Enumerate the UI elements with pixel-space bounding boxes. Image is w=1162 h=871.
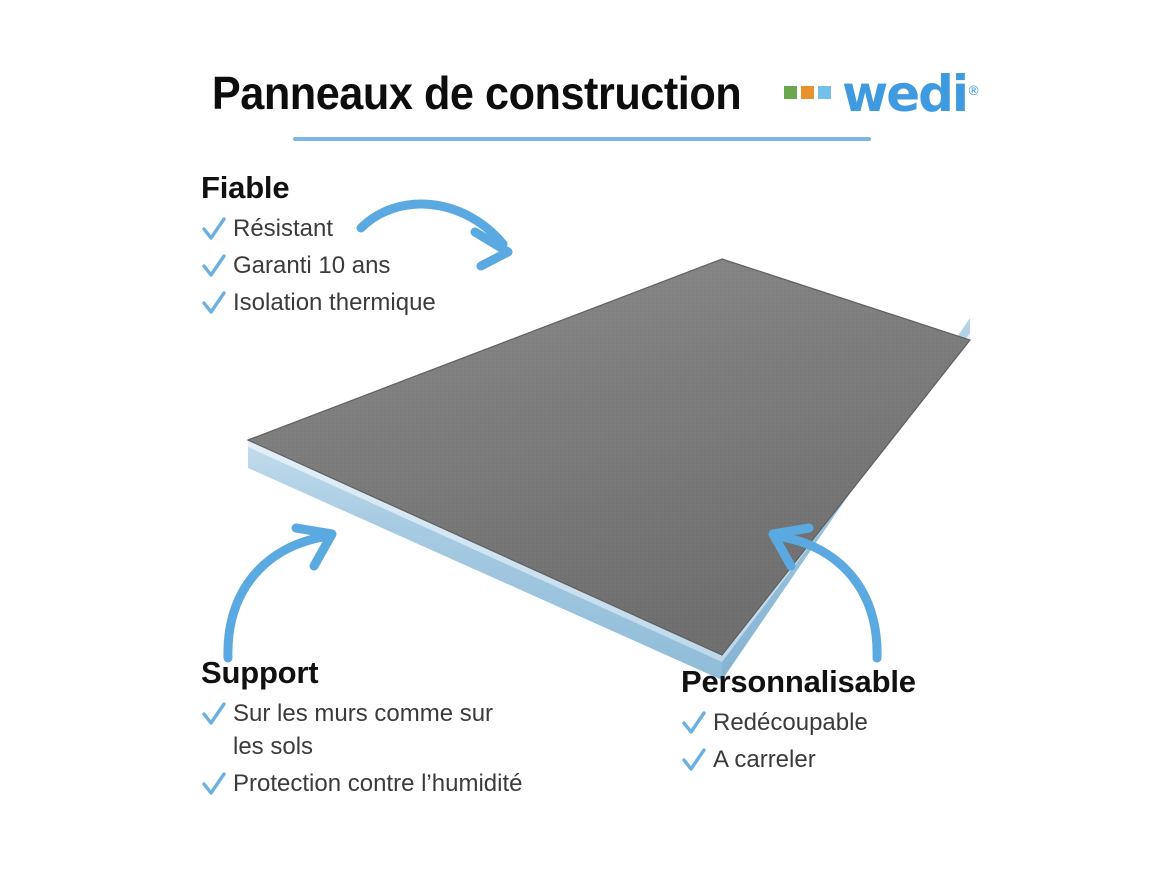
check-icon <box>681 747 707 775</box>
header: Panneaux de construction wedi ® <box>0 58 1162 128</box>
feature-text: Résistant <box>233 213 333 246</box>
list-item: A carreler <box>681 744 916 777</box>
feature-text: Redécoupable <box>713 707 868 740</box>
logo-wordmark: wedi ® <box>842 69 967 119</box>
feature-list-support: Sur les murs comme sur les sols Protecti… <box>201 698 522 801</box>
feature-block-personnalisable: Personnalisable Redécoupable A carreler <box>681 664 916 781</box>
check-icon <box>201 771 227 799</box>
title-divider <box>293 137 871 141</box>
feature-heading-support: Support <box>201 655 522 691</box>
feature-text: Sur les murs comme sur les sols <box>233 698 493 764</box>
feature-text: Protection contre l’humidité <box>233 768 522 801</box>
feature-list-fiable: Résistant Garanti 10 ans Isolation therm… <box>201 213 436 320</box>
feature-text: Garanti 10 ans <box>233 250 390 283</box>
list-item: Résistant <box>201 213 436 246</box>
list-item: Redécoupable <box>681 707 916 740</box>
feature-text: Isolation thermique <box>233 287 436 320</box>
check-icon <box>201 701 227 729</box>
list-item: Sur les murs comme sur les sols <box>201 698 522 764</box>
logo-dots-icon <box>784 86 835 99</box>
list-item: Garanti 10 ans <box>201 250 436 283</box>
check-icon <box>201 253 227 281</box>
logo-wordmark-text: wedi <box>842 65 967 123</box>
check-icon <box>201 216 227 244</box>
registered-trademark-icon: ® <box>967 67 980 117</box>
logo-dot-green-icon <box>784 86 797 99</box>
list-item: Isolation thermique <box>201 287 436 320</box>
wedi-logo: wedi ® <box>784 69 967 119</box>
logo-dot-blue-icon <box>818 86 831 99</box>
arrow-personnalisable-icon <box>745 520 895 665</box>
feature-list-personnalisable: Redécoupable A carreler <box>681 707 916 777</box>
page-title: Panneaux de construction <box>212 66 741 120</box>
logo-dot-orange-icon <box>801 86 814 99</box>
infographic-canvas: Panneaux de construction wedi ® <box>0 0 1162 871</box>
feature-heading-fiable: Fiable <box>201 170 436 206</box>
arrow-support-icon <box>210 520 360 665</box>
feature-text: A carreler <box>713 744 816 777</box>
feature-heading-personnalisable: Personnalisable <box>681 664 916 700</box>
feature-block-support: Support Sur les murs comme sur les sols … <box>201 655 522 805</box>
check-icon <box>681 710 707 738</box>
feature-block-fiable: Fiable Résistant Garanti 10 ans Isolatio… <box>201 170 436 324</box>
list-item: Protection contre l’humidité <box>201 768 522 801</box>
check-icon <box>201 290 227 318</box>
